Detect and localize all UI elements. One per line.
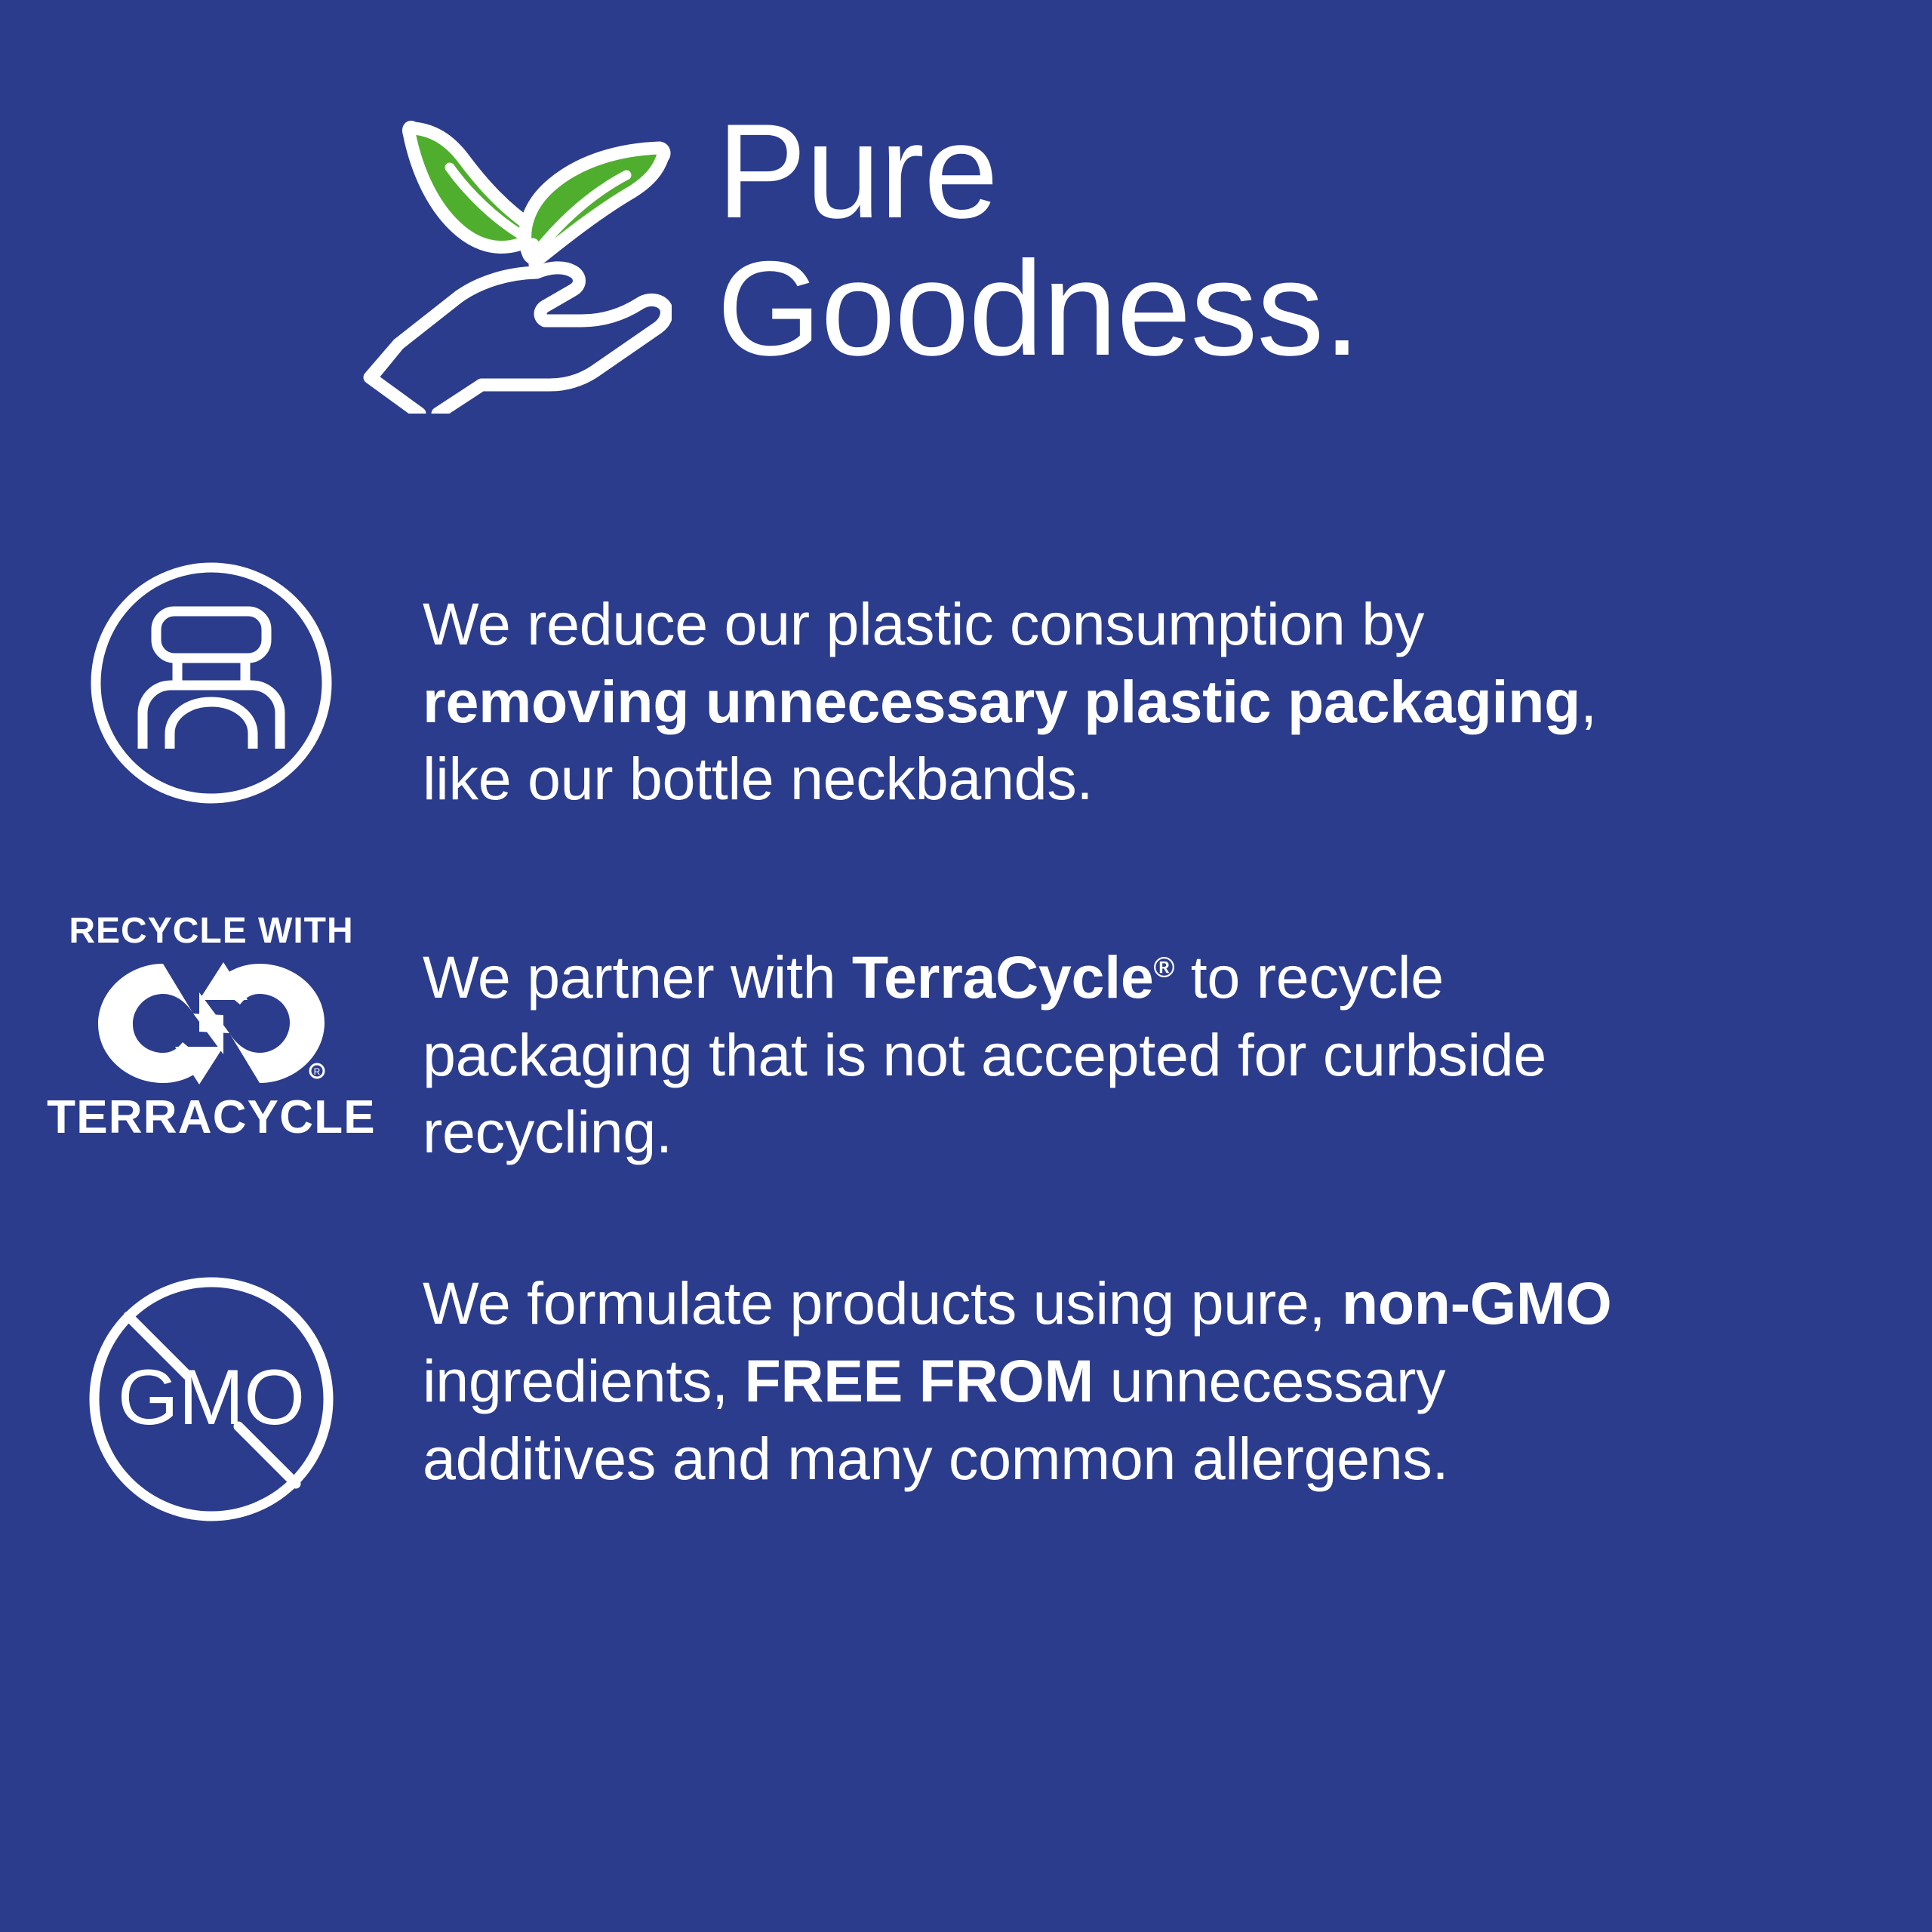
terracycle-top-label: RECYCLE WITH [69, 910, 353, 952]
header: Pure Goodness. [355, 98, 1360, 414]
pure-goodness-infographic: Pure Goodness. We redu [0, 0, 1932, 1932]
text-part-bold: FREE FROM [744, 1347, 1094, 1414]
svg-text:R: R [314, 1066, 321, 1077]
benefit-row-terracycle: RECYCLE WITH [0, 900, 1932, 1171]
benefit-text-gmo: We formulate products using pure, non-GM… [423, 1253, 1630, 1497]
no-gmo-icon: GMO [0, 1253, 423, 1527]
terracycle-logo: RECYCLE WITH [0, 900, 423, 1144]
text-part-bold: removing unnecessary plastic packaging [423, 668, 1580, 735]
page-title: Pure Goodness. [717, 98, 1360, 377]
infinity-recycle-arrows-icon: R [91, 958, 332, 1088]
text-part: ingredients, [423, 1347, 744, 1414]
benefit-text-terracycle: We partner with TerraCycle® to recycle p… [423, 900, 1630, 1171]
gmo-label: GMO [118, 1354, 305, 1441]
text-part-bold: non-GMO [1342, 1269, 1612, 1337]
benefit-list: We reduce our plastic consumption by rem… [0, 558, 1932, 1609]
benefit-row-plastic: We reduce our plastic consumption by rem… [0, 558, 1932, 818]
text-part: We partner with [423, 943, 852, 1011]
benefit-text-plastic: We reduce our plastic consumption by rem… [423, 558, 1630, 818]
benefit-row-gmo: GMO We formulate products using pure, no… [0, 1253, 1932, 1527]
registered-mark: ® [1153, 952, 1174, 984]
terracycle-bottom-label: TERRACYCLE [47, 1091, 376, 1144]
title-line-2: Goodness. [717, 240, 1360, 377]
text-part: We formulate products using pure, [423, 1269, 1342, 1337]
text-part: We reduce our plastic consumption by [423, 590, 1424, 657]
text-part-bold: TerraCycle [852, 943, 1154, 1011]
bottle-in-circle-icon [0, 558, 423, 808]
plant-in-hand-icon [355, 112, 672, 414]
title-line-1: Pure [717, 103, 1360, 240]
